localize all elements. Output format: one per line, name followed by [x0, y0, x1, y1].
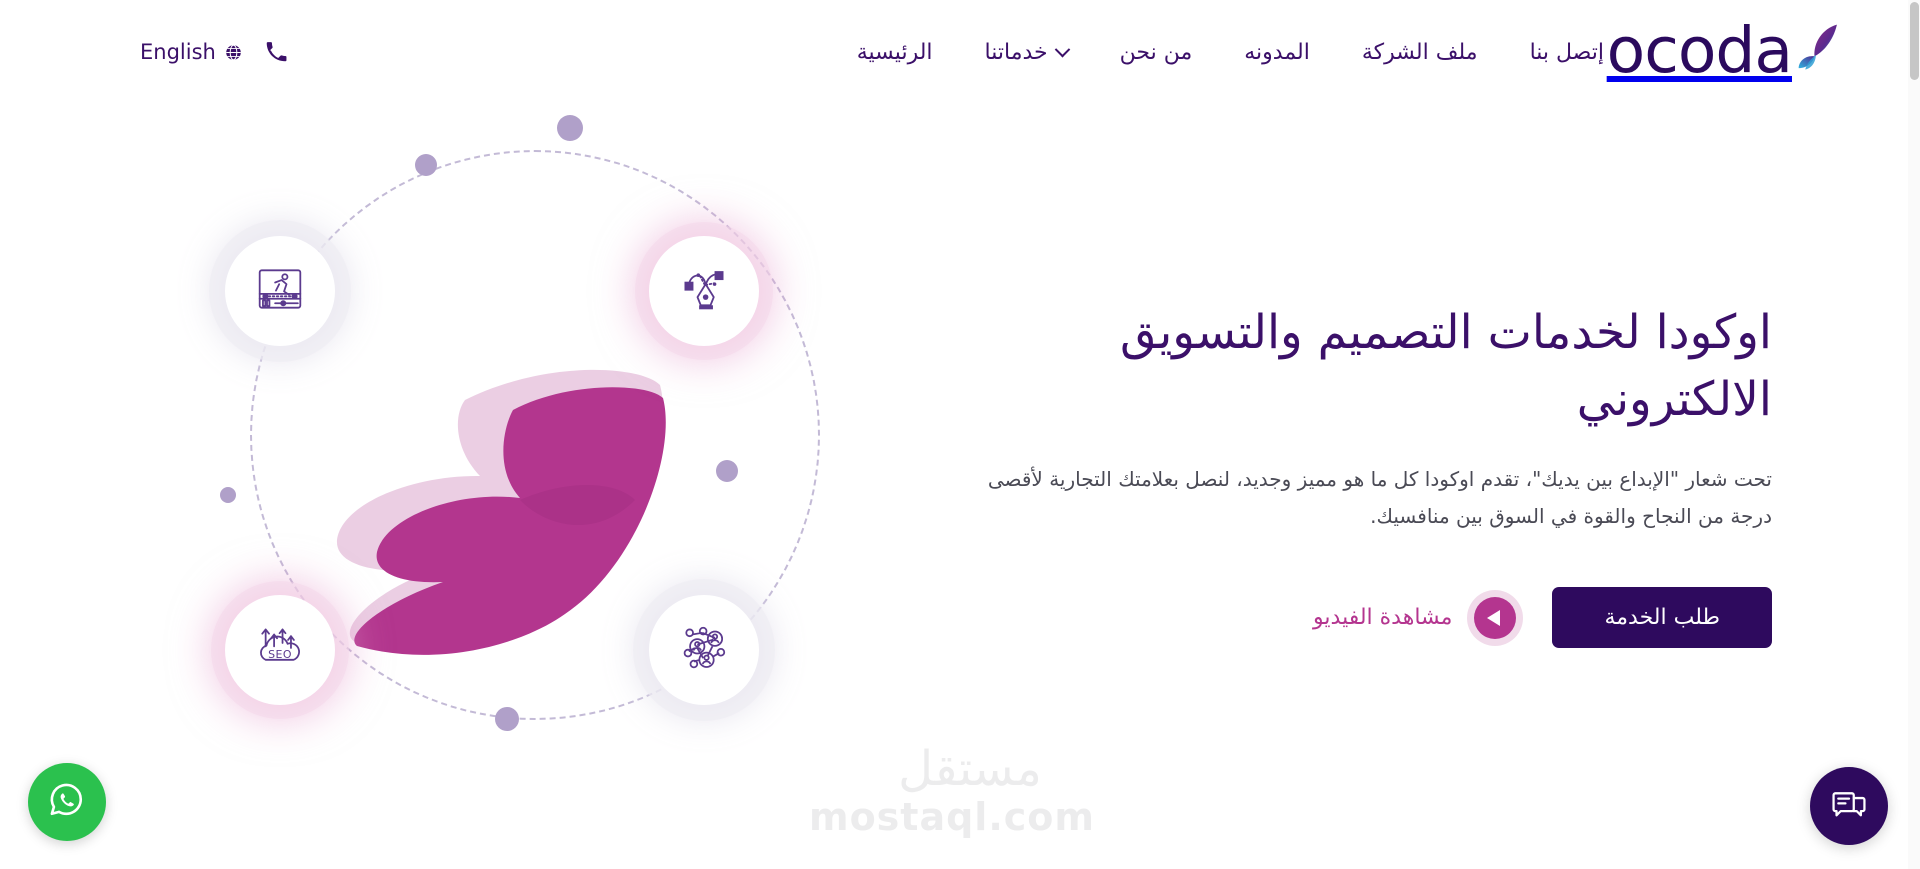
- hero-actions: طلب الخدمة مشاهدة الفيديو: [982, 587, 1772, 648]
- request-service-button[interactable]: طلب الخدمة: [1552, 587, 1772, 648]
- whatsapp-icon: [45, 778, 89, 826]
- chevron-down-icon: [1054, 42, 1070, 58]
- site-header: English إتصل بنا ملف الشركة المدونه من ن…: [0, 0, 1920, 108]
- page-root: English إتصل بنا ملف الشركة المدونه من ن…: [0, 0, 1920, 869]
- animation-video-icon: [254, 263, 306, 319]
- watch-video-link[interactable]: مشاهدة الفيديو: [1313, 597, 1516, 639]
- logo-wordmark: ocoda: [1607, 19, 1792, 88]
- main-navigation: إتصل بنا ملف الشركة المدونه من نحن خدمات…: [831, 36, 1630, 69]
- page-scrollbar-thumb[interactable]: [1910, 2, 1919, 80]
- illustration-node-animation[interactable]: [225, 236, 335, 346]
- illustration-node-social[interactable]: [649, 595, 759, 705]
- illustration-node-seo[interactable]: SEO: [225, 595, 335, 705]
- hero-description: تحت شعار "الإبداع بين يديك"، تقدم اوكودا…: [982, 461, 1772, 535]
- whatsapp-button[interactable]: [28, 763, 106, 841]
- nav-item-label: إتصل بنا: [1530, 40, 1604, 65]
- watermark-arabic: مستقل: [845, 745, 1095, 793]
- language-label: English: [140, 40, 216, 64]
- nav-item-home[interactable]: الرئيسية: [831, 36, 959, 69]
- nav-item-label: ملف الشركة: [1362, 40, 1478, 65]
- orbit-dot: [557, 115, 583, 141]
- nav-item-label: من نحن: [1120, 40, 1193, 65]
- header-utility-bar: English: [140, 40, 287, 64]
- nav-item-label: الرئيسية: [857, 40, 933, 65]
- orbit-dot: [220, 487, 236, 503]
- hero-content: اوكودا لخدمات التصميم والتسويق الالكترون…: [982, 300, 1772, 648]
- language-selector[interactable]: English: [140, 40, 243, 64]
- phone-icon[interactable]: [265, 41, 287, 63]
- page-title: اوكودا لخدمات التصميم والتسويق الالكترون…: [982, 300, 1772, 433]
- nav-item-label: خدماتنا: [985, 40, 1048, 65]
- hero-illustration: SEO: [175, 90, 915, 790]
- butterfly-logo-icon: [1796, 18, 1862, 88]
- play-icon[interactable]: [1474, 597, 1516, 639]
- orbit-dot: [415, 154, 437, 176]
- site-logo[interactable]: ocoda: [1607, 17, 1862, 89]
- illustration-node-design[interactable]: [649, 236, 759, 346]
- orbit-dot: [495, 707, 519, 731]
- chat-widget-button[interactable]: [1810, 767, 1888, 845]
- seo-cloud-icon: SEO: [253, 621, 307, 679]
- watermark-latin: mostaql.com: [845, 797, 1095, 839]
- play-triangle: [1487, 610, 1500, 626]
- globe-icon: [224, 43, 243, 62]
- nav-item-services[interactable]: خدماتنا: [959, 36, 1094, 69]
- social-network-icon: [677, 621, 731, 679]
- nav-item-about-us[interactable]: من نحن: [1094, 36, 1219, 69]
- pen-tool-icon: [678, 263, 730, 319]
- watch-video-label: مشاهدة الفيديو: [1313, 605, 1452, 630]
- nav-item-blog[interactable]: المدونه: [1218, 36, 1336, 69]
- nav-item-company-profile[interactable]: ملف الشركة: [1336, 36, 1504, 69]
- mostaql-watermark: مستقل mostaql.com: [845, 745, 1095, 839]
- chat-bubble-icon: [1830, 785, 1868, 827]
- svg-text:SEO: SEO: [268, 648, 292, 661]
- nav-item-label: المدونه: [1244, 40, 1310, 65]
- page-scrollbar-track[interactable]: [1908, 0, 1920, 869]
